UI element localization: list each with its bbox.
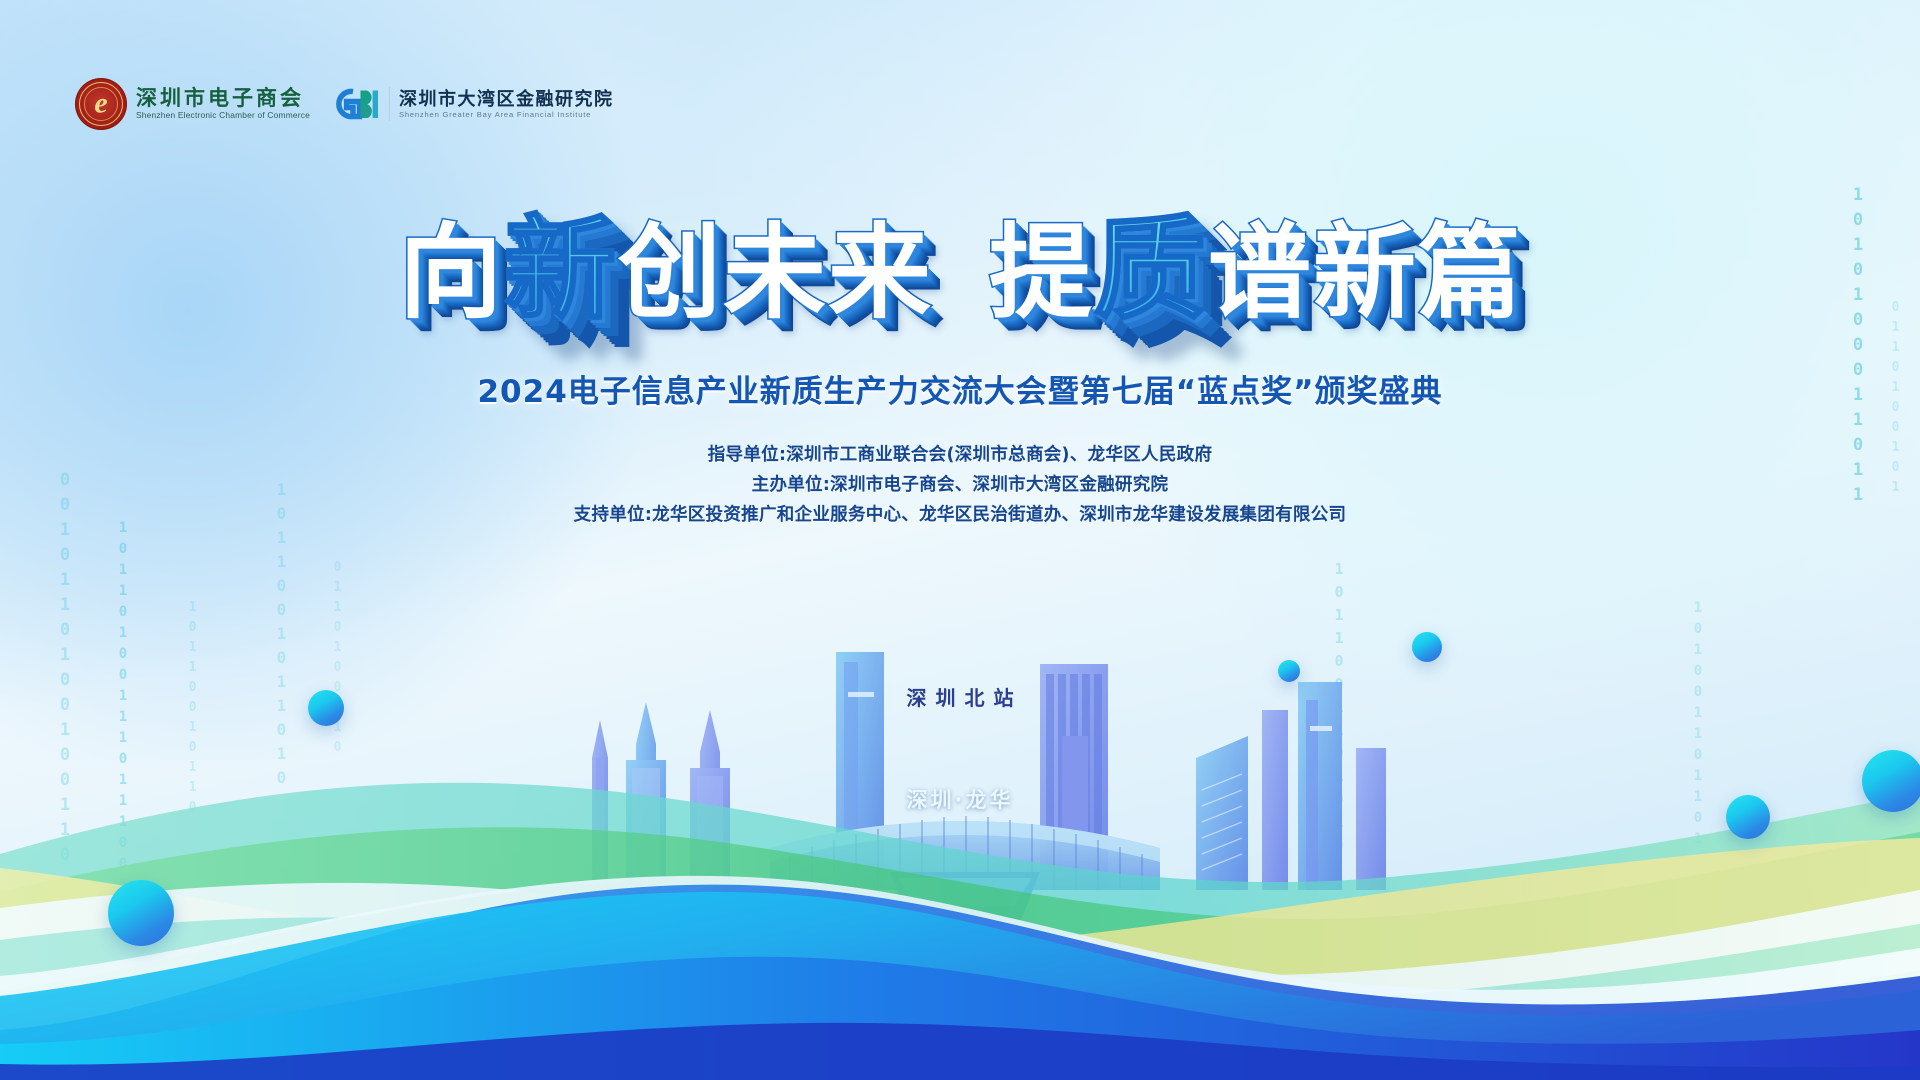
gbi-name-cn: 深圳市大湾区金融研究院 <box>399 90 614 108</box>
organizer-block: 指导单位:深圳市工商业联合会(深圳市总商会)、龙华区人民政府 主办单位:深圳市电… <box>0 440 1920 530</box>
chamber-seal-icon: e <box>75 78 127 130</box>
background-right-glow <box>1000 0 1920 680</box>
chamber-name-cn: 深圳市电子商会 <box>136 88 310 109</box>
title-line-group: 向新创未来 提质谱新篇 <box>398 214 1522 326</box>
title-line-a: 向新创未来 <box>398 214 932 326</box>
title-a-char-3: 未 <box>723 222 826 325</box>
title-a-char-1: 新 <box>504 214 616 326</box>
organizer-line-support: 支持单位:龙华区投资推广和企业服务中心、龙华区民治街道办、深圳市龙华建设发展集团… <box>0 500 1920 530</box>
decorative-sphere-4 <box>1726 795 1770 839</box>
gbi-logo-text: 深圳市大湾区金融研究院 Shenzhen Greater Bay Area Fi… <box>399 90 614 119</box>
event-subtitle: 2024电子信息产业新质生产力交流大会暨第七届“蓝点奖”颁奖盛典 <box>0 366 1920 411</box>
title-b-char-4: 篇 <box>1418 222 1521 325</box>
seal-e-glyph: e <box>75 88 127 118</box>
logo-shenzhen-electronic-chamber-of-commerce: e 深圳市电子商会 Shenzhen Electronic Chamber of… <box>75 78 310 130</box>
main-title: 向新创未来 提质谱新篇 <box>0 214 1920 326</box>
title-b-char-0: 提 <box>989 222 1092 325</box>
poster-canvas: 0010110100100110101101001110111001110110… <box>0 0 1920 1080</box>
decorative-sphere-5 <box>1862 750 1920 812</box>
title-b-char-2: 谱 <box>1208 222 1311 325</box>
decorative-sphere-1 <box>308 690 344 726</box>
logo-row: e 深圳市电子商会 Shenzhen Electronic Chamber of… <box>75 78 613 130</box>
gbi-mark-icon <box>334 87 380 121</box>
organizer-line-guidance: 指导单位:深圳市工商业联合会(深圳市总商会)、龙华区人民政府 <box>0 440 1920 470</box>
decorative-sphere-0 <box>108 880 174 946</box>
title-b-char-1: 质 <box>1094 214 1206 326</box>
chamber-logo-text: 深圳市电子商会 Shenzhen Electronic Chamber of C… <box>136 88 310 119</box>
station-label: 深圳北站 <box>0 682 1920 711</box>
title-a-char-4: 来 <box>828 222 931 325</box>
logo-shenzhen-greater-bay-area-financial-institute: 深圳市大湾区金融研究院 Shenzhen Greater Bay Area Fi… <box>334 87 614 121</box>
title-a-char-2: 创 <box>618 222 721 325</box>
title-line-b: 提质谱新篇 <box>988 214 1522 326</box>
title-b-char-3: 新 <box>1313 222 1416 325</box>
gbi-name-en: Shenzhen Greater Bay Area Financial Inst… <box>399 111 614 119</box>
chamber-name-en: Shenzhen Electronic Chamber of Commerce <box>136 111 310 119</box>
title-a-char-0: 向 <box>399 222 502 325</box>
organizer-line-host: 主办单位:深圳市电子商会、深圳市大湾区金融研究院 <box>0 470 1920 500</box>
city-label: 深圳·龙华 <box>0 784 1920 814</box>
decorative-sphere-3 <box>1412 632 1442 662</box>
logo-divider <box>389 87 390 121</box>
decorative-sphere-2 <box>1278 660 1300 682</box>
